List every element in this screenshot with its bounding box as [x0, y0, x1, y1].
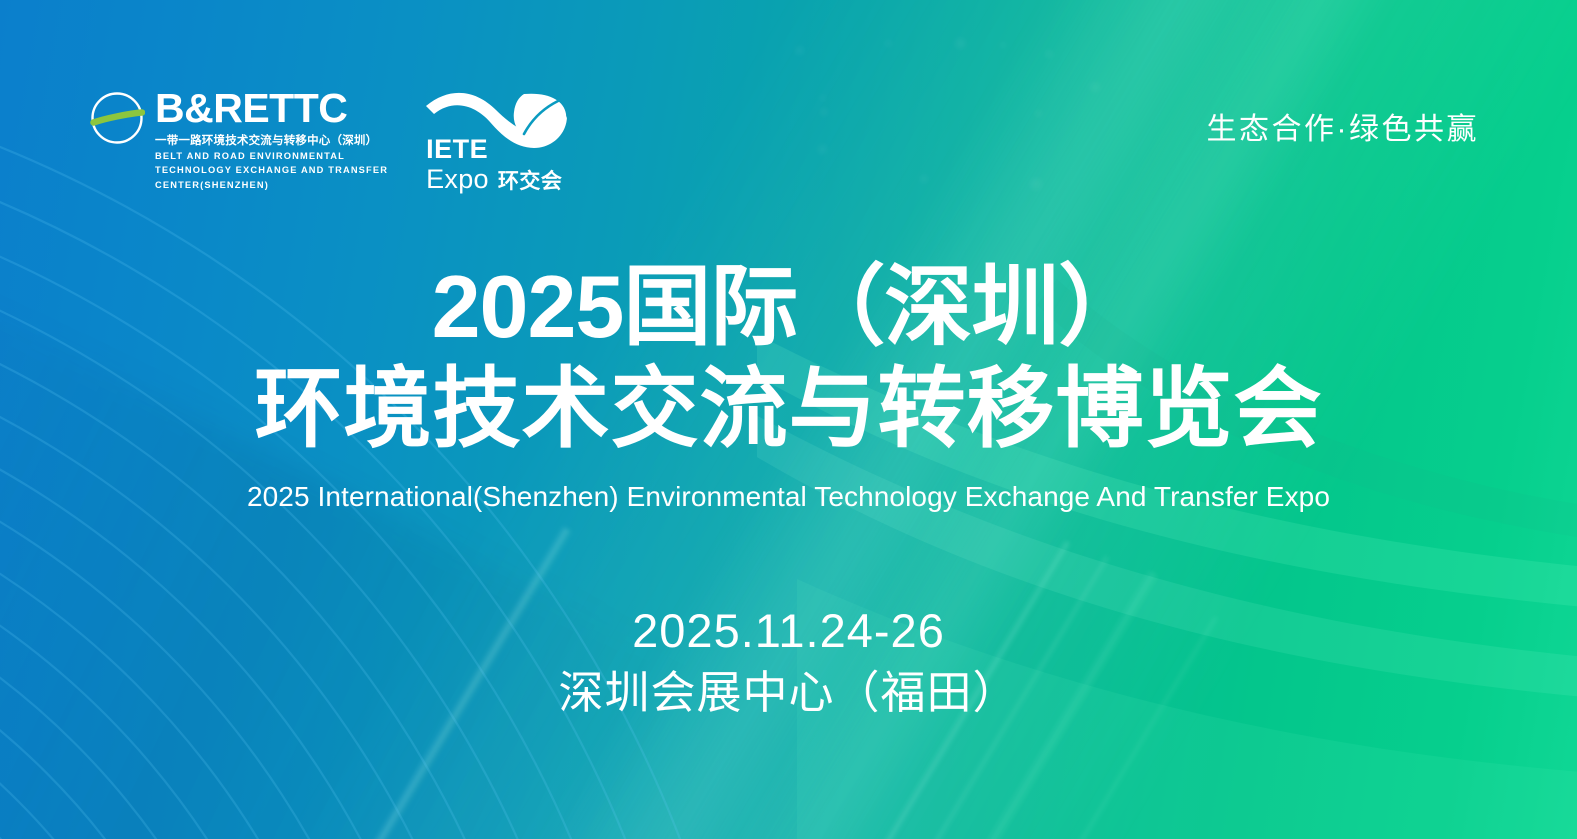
brettc-text-block: B&RETTC 一带一路环境技术交流与转移中心（深圳） BELT AND ROA…	[155, 88, 388, 191]
globe-icon	[89, 90, 145, 146]
background-speck	[1000, 42, 1006, 48]
event-venue: 深圳会展中心（福田）	[0, 666, 1577, 720]
background-speck	[820, 108, 828, 116]
event-info-block: 2025.11.24-26 深圳会展中心（福田）	[0, 604, 1577, 720]
iete-expo-chinese-label: 环交会	[498, 165, 563, 195]
brettc-english-line-2: TECHNOLOGY EXCHANGE AND TRANSFER	[155, 164, 388, 176]
event-banner: B&RETTC 一带一路环境技术交流与转移中心（深圳） BELT AND ROA…	[0, 0, 1577, 839]
background-speck	[885, 40, 892, 47]
logo-brettc[interactable]: B&RETTC 一带一路环境技术交流与转移中心（深圳） BELT AND ROA…	[89, 88, 388, 191]
brettc-english-line-1: BELT AND ROAD ENVIRONMENTAL	[155, 150, 388, 162]
iete-text-block: IETE Expo 环交会	[426, 136, 562, 195]
background-speck	[1045, 50, 1053, 58]
iete-expo-label: Expo	[426, 165, 489, 193]
background-speck	[920, 175, 928, 183]
headline-block: 2025国际（深圳） 环境技术交流与转移博览会 2025 Internation…	[0, 262, 1577, 513]
page-title-line-2: 环境技术交流与转移博览会	[0, 362, 1577, 455]
page-subtitle-english: 2025 International(Shenzhen) Environment…	[0, 481, 1577, 513]
background-speck	[1090, 82, 1100, 92]
background-speck	[955, 38, 966, 49]
page-title-line-1: 2025国际（深圳）	[0, 262, 1577, 352]
event-date: 2025.11.24-26	[0, 604, 1577, 658]
background-speck	[820, 95, 826, 101]
iete-wordmark: IETE	[426, 136, 488, 163]
tagline: 生态合作·绿色共赢	[1207, 104, 1480, 148]
logo-iete[interactable]: IETE Expo 环交会	[424, 88, 584, 193]
iete-sub-line: Expo 环交会	[426, 165, 562, 195]
brettc-chinese-name: 一带一路环境技术交流与转移中心（深圳）	[155, 132, 388, 148]
logo-row: B&RETTC 一带一路环境技术交流与转移中心（深圳） BELT AND ROA…	[89, 88, 584, 193]
background-speck	[1030, 178, 1042, 190]
background-speck	[1035, 110, 1042, 117]
background-speck	[818, 145, 827, 154]
background-speck	[795, 46, 804, 55]
brettc-wordmark: B&RETTC	[155, 88, 388, 128]
brettc-english-line-3: CENTER(SHENZHEN)	[155, 179, 388, 191]
